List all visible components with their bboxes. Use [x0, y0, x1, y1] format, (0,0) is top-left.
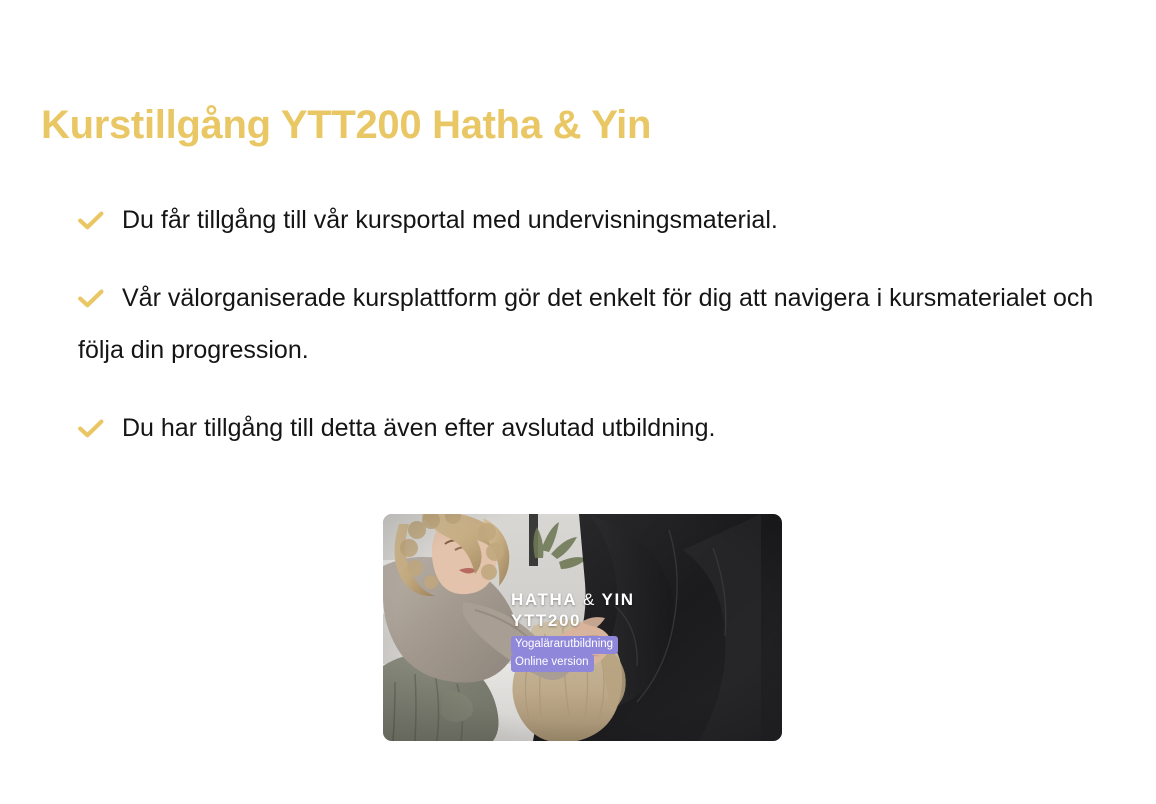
- list-item: Du har tillgång till detta även efter av…: [78, 401, 1108, 454]
- course-card[interactable]: HATHA & YIN YTT200 Yogalärarutbildning O…: [383, 514, 782, 741]
- check-icon: [78, 271, 122, 323]
- course-card-tags: Yogalärarutbildning Online version: [511, 636, 772, 672]
- course-card-title-line1: HATHA & YIN: [511, 589, 772, 610]
- course-card-caption: HATHA & YIN YTT200 Yogalärarutbildning O…: [511, 589, 772, 672]
- slide-root: Kurstillgång YTT200 Hatha & Yin Du får t…: [0, 0, 1156, 804]
- list-item-label: Vår välorganiserade kursplattform gör de…: [78, 284, 1093, 364]
- ampersand: &: [583, 590, 596, 609]
- course-title-part-b: YIN: [602, 590, 635, 609]
- list-item: Vår välorganiserade kursplattform gör de…: [78, 271, 1108, 376]
- list-item-label: Du har tillgång till detta även efter av…: [122, 414, 715, 442]
- check-icon: [78, 193, 122, 245]
- benefits-list: Du får tillgång till vår kursportal med …: [78, 168, 1108, 454]
- tag-program-type: Yogalärarutbildning: [511, 636, 618, 654]
- list-item-label: Du får tillgång till vår kursportal med …: [122, 206, 778, 234]
- course-card-title-line2: YTT200: [511, 610, 772, 631]
- course-title-part-a: HATHA: [511, 590, 577, 609]
- check-icon: [78, 401, 122, 453]
- page-title: Kurstillgång YTT200 Hatha & Yin: [41, 99, 651, 151]
- list-item: Du får tillgång till vår kursportal med …: [78, 193, 1108, 246]
- tag-delivery-mode: Online version: [511, 654, 594, 672]
